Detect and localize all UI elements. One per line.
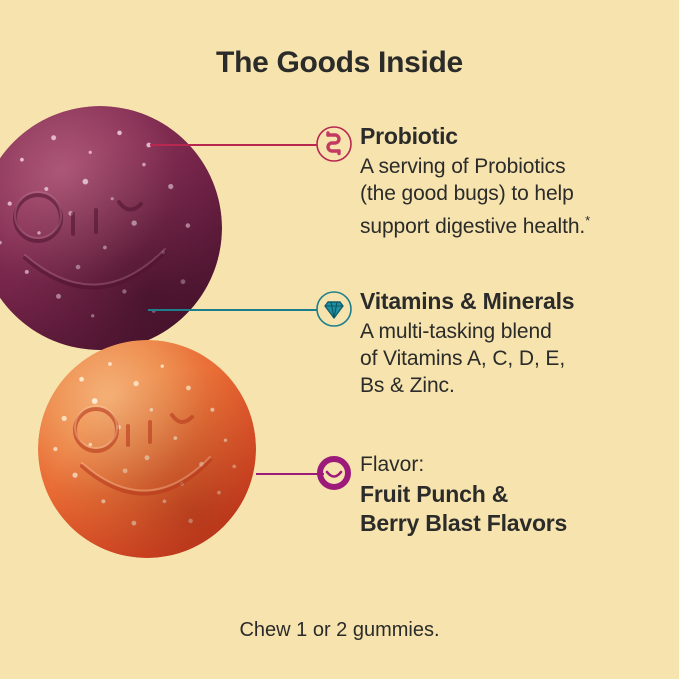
feature-flavor-text: Flavor: Fruit Punch &Berry Blast Flavors — [360, 451, 679, 538]
feature-flavor-label: Flavor: — [360, 451, 679, 478]
berry-gummy — [0, 106, 222, 350]
flavor-line-1: Fruit Punch & — [360, 481, 508, 507]
intestine-icon — [314, 124, 354, 164]
berry-gummy-olly-face — [0, 106, 222, 350]
body-line-1: A multi-tasking blend — [360, 320, 552, 343]
flavor-line-2: Berry Blast Flavors — [360, 510, 567, 536]
body-line-3: Bs & Zinc. — [360, 374, 455, 397]
orange-gummy — [38, 340, 256, 558]
footnote-marker: * — [585, 213, 590, 228]
gem-icon — [314, 289, 354, 329]
smiley-ring-icon — [314, 453, 354, 493]
body-line-2: (the good bugs) to help — [360, 182, 574, 205]
feature-probiotic-body: A serving of Probiotics(the good bugs) t… — [360, 153, 679, 240]
body-line-3: support digestive health. — [360, 215, 585, 238]
infographic-canvas: The Goods Inside — [0, 0, 679, 679]
orange-gummy-olly-face — [38, 340, 256, 558]
body-line-1: A serving of Probiotics — [360, 155, 565, 178]
connector-line-probiotic — [150, 144, 322, 146]
body-line-2: of Vitamins A, C, D, E, — [360, 347, 565, 370]
feature-probiotic-heading: Probiotic — [360, 122, 679, 150]
footer-note: Chew 1 or 2 gummies. — [0, 619, 679, 642]
page-title: The Goods Inside — [0, 46, 679, 80]
feature-probiotic-text: Probiotic A serving of Probiotics(the go… — [360, 122, 679, 240]
feature-flavor-value: Fruit Punch &Berry Blast Flavors — [360, 480, 679, 538]
feature-vitamins-body: A multi-tasking blendof Vitamins A, C, D… — [360, 318, 679, 399]
feature-vitamins-heading: Vitamins & Minerals — [360, 287, 679, 315]
connector-line-vitamins — [148, 309, 324, 311]
feature-vitamins-text: Vitamins & Minerals A multi-tasking blen… — [360, 287, 679, 399]
